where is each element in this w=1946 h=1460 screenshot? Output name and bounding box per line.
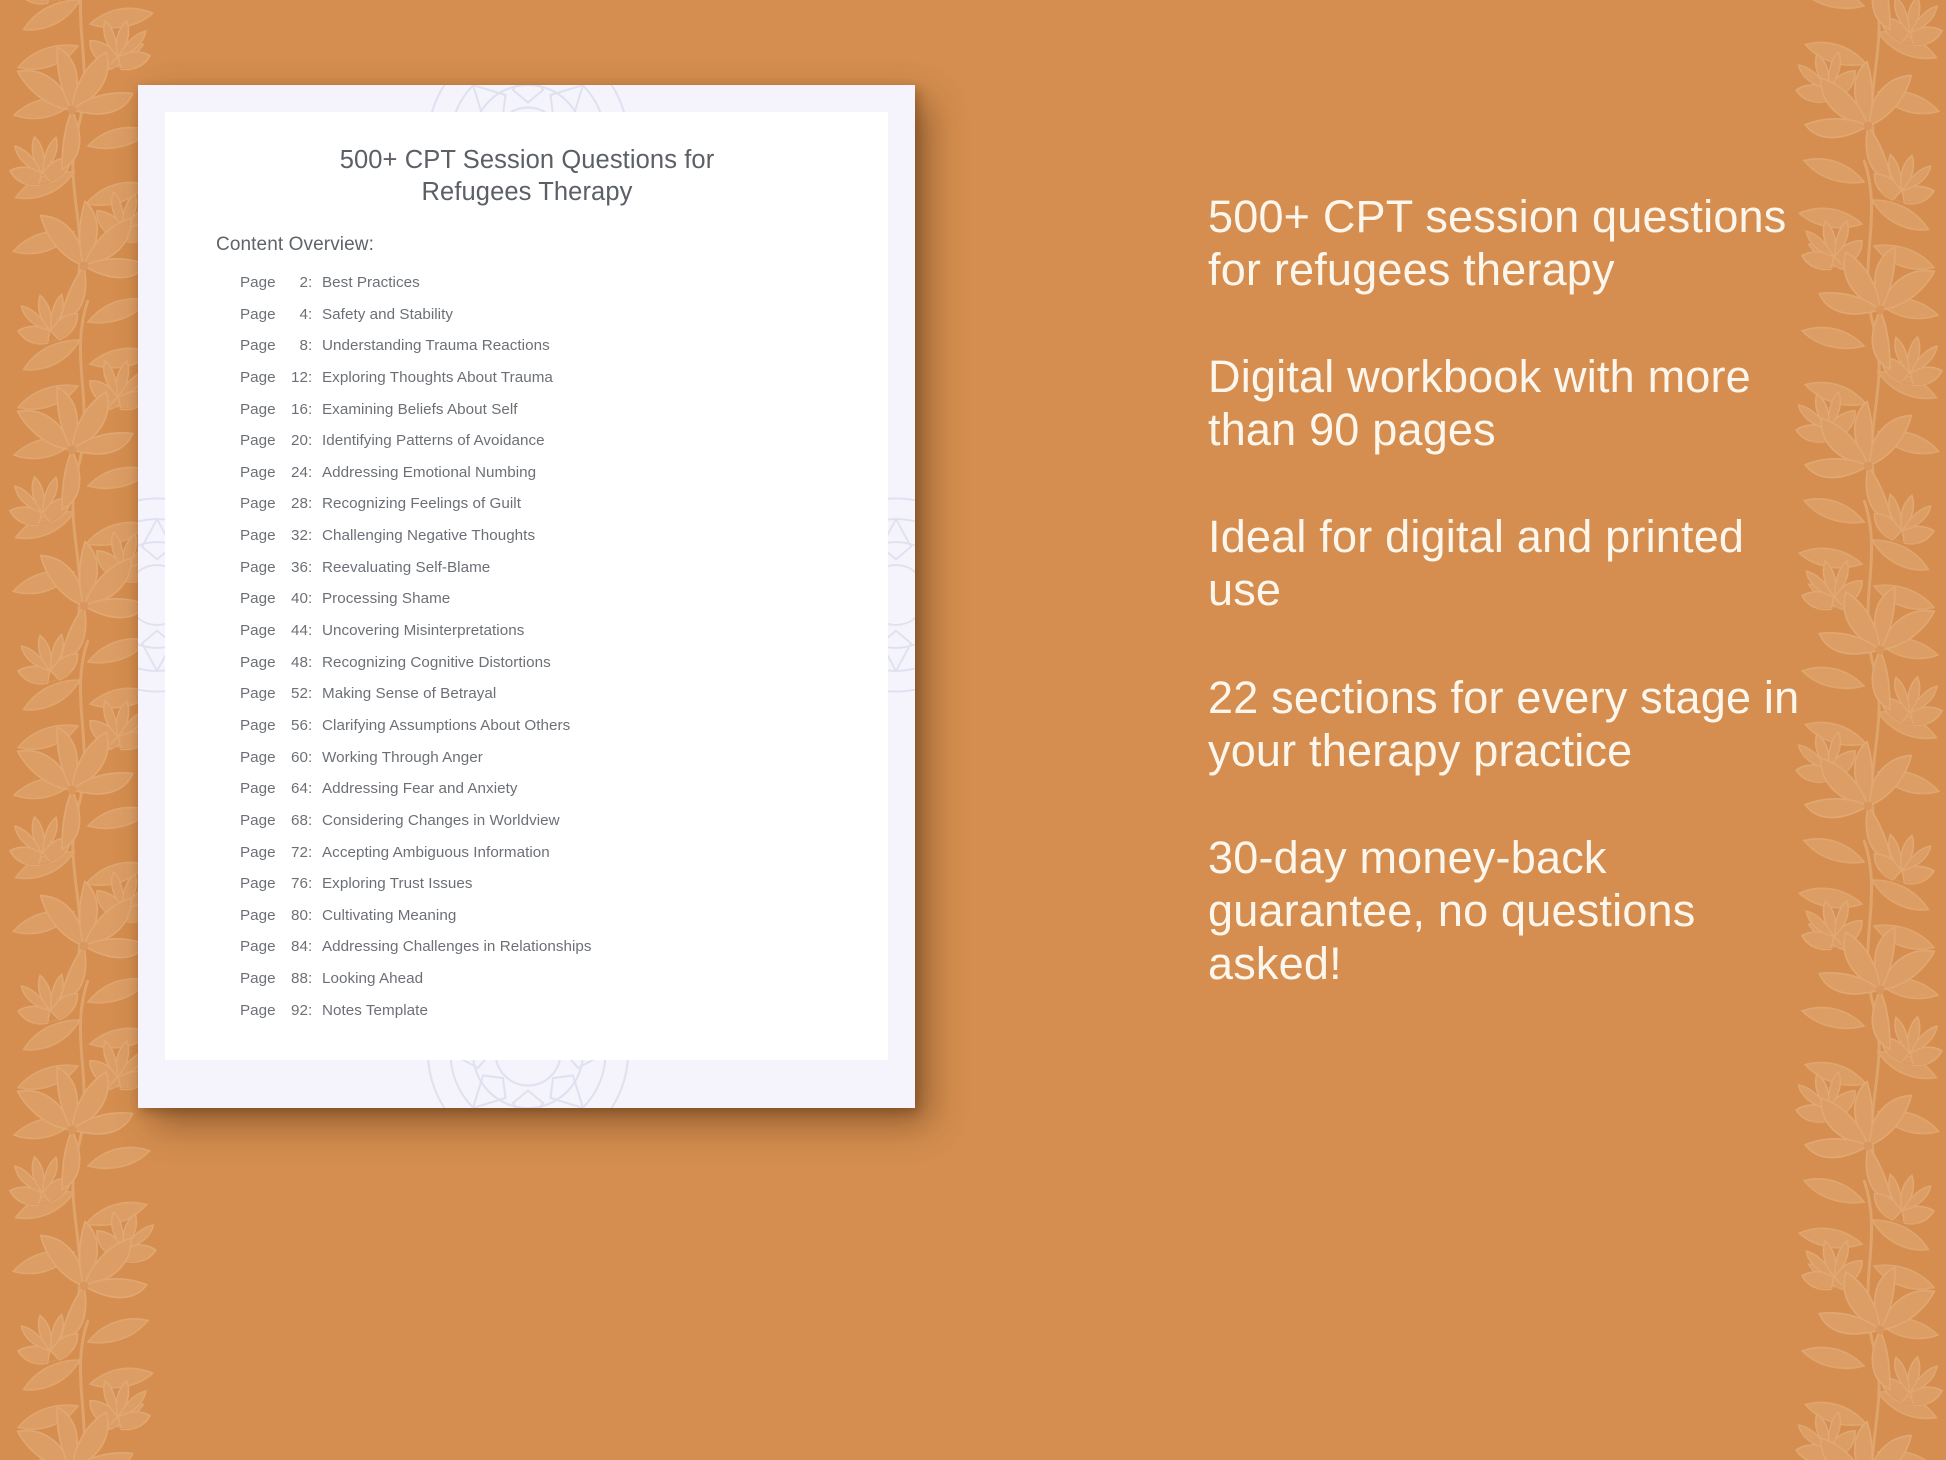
toc-page-word: Page xyxy=(240,369,282,386)
toc-page-number: 40 xyxy=(282,590,308,607)
toc-row: Page64:Addressing Fear and Anxiety xyxy=(240,780,860,812)
toc-section-title: Challenging Negative Thoughts xyxy=(322,527,535,544)
toc-row: Page44:Uncovering Misinterpretations xyxy=(240,622,860,654)
toc-colon: : xyxy=(308,527,322,544)
toc-colon: : xyxy=(308,464,322,481)
page-title: 500+ CPT Session Questions for Refugees … xyxy=(217,145,837,209)
toc-colon: : xyxy=(308,654,322,671)
toc-page-word: Page xyxy=(240,875,282,892)
toc-section-title: Processing Shame xyxy=(322,590,450,607)
toc-page-number: 48 xyxy=(282,654,308,671)
toc-section-title: Identifying Patterns of Avoidance xyxy=(322,432,545,449)
toc-page-word: Page xyxy=(240,432,282,449)
marketing-bullet: 500+ CPT session questions for refugees … xyxy=(1208,190,1828,296)
toc-colon: : xyxy=(308,844,322,861)
toc-row: Page56:Clarifying Assumptions About Othe… xyxy=(240,717,860,749)
toc-page-number: 8 xyxy=(282,337,308,354)
toc-row: Page68:Considering Changes in Worldview xyxy=(240,812,860,844)
toc-page-number: 4 xyxy=(282,306,308,323)
toc-section-title: Recognizing Feelings of Guilt xyxy=(322,495,521,512)
toc-colon: : xyxy=(308,306,322,323)
toc-row: Page28:Recognizing Feelings of Guilt xyxy=(240,495,860,527)
toc-colon: : xyxy=(308,907,322,924)
toc-row: Page80:Cultivating Meaning xyxy=(240,907,860,939)
toc-row: Page36:Reevaluating Self-Blame xyxy=(240,559,860,591)
toc-page-word: Page xyxy=(240,464,282,481)
toc-page-number: 68 xyxy=(282,812,308,829)
toc-page-number: 56 xyxy=(282,717,308,734)
toc-section-title: Exploring Thoughts About Trauma xyxy=(322,369,553,386)
toc-colon: : xyxy=(308,970,322,987)
toc-section-title: Cultivating Meaning xyxy=(322,907,456,924)
toc-page-number: 64 xyxy=(282,780,308,797)
toc-colon: : xyxy=(308,274,322,291)
toc-page-word: Page xyxy=(240,527,282,544)
toc-row: Page2:Best Practices xyxy=(240,274,860,306)
toc-section-title: Best Practices xyxy=(322,274,420,291)
toc-row: Page92:Notes Template xyxy=(240,1002,860,1034)
toc-colon: : xyxy=(308,875,322,892)
toc-row: Page76:Exploring Trust Issues xyxy=(240,875,860,907)
toc-section-title: Addressing Fear and Anxiety xyxy=(322,780,518,797)
page-sheet: 500+ CPT Session Questions for Refugees … xyxy=(165,112,888,1060)
toc-row: Page40:Processing Shame xyxy=(240,590,860,622)
toc-page-word: Page xyxy=(240,306,282,323)
toc-section-title: Exploring Trust Issues xyxy=(322,875,473,892)
toc-page-number: 84 xyxy=(282,938,308,955)
page-mat: 500+ CPT Session Questions for Refugees … xyxy=(138,85,915,1108)
toc-page-number: 28 xyxy=(282,495,308,512)
toc-section-title: Uncovering Misinterpretations xyxy=(322,622,524,639)
toc-section-title: Considering Changes in Worldview xyxy=(322,812,560,829)
table-of-contents: Page2:Best PracticesPage4:Safety and Sta… xyxy=(240,274,860,1033)
toc-page-word: Page xyxy=(240,622,282,639)
toc-row: Page32:Challenging Negative Thoughts xyxy=(240,527,860,559)
content-overview-label: Content Overview: xyxy=(216,234,374,256)
toc-page-number: 16 xyxy=(282,401,308,418)
toc-row: Page84:Addressing Challenges in Relation… xyxy=(240,938,860,970)
toc-colon: : xyxy=(308,938,322,955)
toc-colon: : xyxy=(308,590,322,607)
toc-page-word: Page xyxy=(240,907,282,924)
toc-section-title: Working Through Anger xyxy=(322,749,483,766)
toc-colon: : xyxy=(308,432,322,449)
marketing-bullet: Digital workbook with more than 90 pages xyxy=(1208,350,1828,456)
toc-page-number: 60 xyxy=(282,749,308,766)
toc-page-word: Page xyxy=(240,654,282,671)
toc-section-title: Understanding Trauma Reactions xyxy=(322,337,550,354)
toc-colon: : xyxy=(308,495,322,512)
toc-colon: : xyxy=(308,685,322,702)
toc-page-number: 12 xyxy=(282,369,308,386)
toc-row: Page72:Accepting Ambiguous Information xyxy=(240,844,860,876)
marketing-bullet: 22 sections for every stage in your ther… xyxy=(1208,671,1828,777)
toc-page-word: Page xyxy=(240,717,282,734)
toc-page-number: 76 xyxy=(282,875,308,892)
toc-colon: : xyxy=(308,780,322,797)
toc-section-title: Safety and Stability xyxy=(322,306,453,323)
toc-colon: : xyxy=(308,812,322,829)
toc-page-word: Page xyxy=(240,938,282,955)
toc-page-word: Page xyxy=(240,749,282,766)
toc-page-number: 36 xyxy=(282,559,308,576)
toc-row: Page52:Making Sense of Betrayal xyxy=(240,685,860,717)
toc-page-number: 24 xyxy=(282,464,308,481)
toc-colon: : xyxy=(308,749,322,766)
toc-page-number: 52 xyxy=(282,685,308,702)
toc-section-title: Clarifying Assumptions About Others xyxy=(322,717,570,734)
toc-page-word: Page xyxy=(240,780,282,797)
toc-page-number: 2 xyxy=(282,274,308,291)
toc-colon: : xyxy=(308,559,322,576)
toc-row: Page12:Exploring Thoughts About Trauma xyxy=(240,369,860,401)
marketing-bullet-list: 500+ CPT session questions for refugees … xyxy=(1208,190,1828,990)
toc-page-number: 20 xyxy=(282,432,308,449)
toc-page-number: 80 xyxy=(282,907,308,924)
toc-page-word: Page xyxy=(240,495,282,512)
toc-page-word: Page xyxy=(240,970,282,987)
toc-page-number: 44 xyxy=(282,622,308,639)
page-title-line-2: Refugees Therapy xyxy=(217,177,837,209)
toc-section-title: Addressing Emotional Numbing xyxy=(322,464,536,481)
toc-page-word: Page xyxy=(240,559,282,576)
toc-row: Page48:Recognizing Cognitive Distortions xyxy=(240,654,860,686)
toc-page-word: Page xyxy=(240,812,282,829)
toc-page-number: 88 xyxy=(282,970,308,987)
toc-page-word: Page xyxy=(240,844,282,861)
toc-row: Page20:Identifying Patterns of Avoidance xyxy=(240,432,860,464)
toc-page-word: Page xyxy=(240,337,282,354)
toc-colon: : xyxy=(308,401,322,418)
toc-colon: : xyxy=(308,369,322,386)
toc-page-word: Page xyxy=(240,685,282,702)
toc-section-title: Recognizing Cognitive Distortions xyxy=(322,654,551,671)
toc-colon: : xyxy=(308,717,322,734)
toc-section-title: Examining Beliefs About Self xyxy=(322,401,518,418)
toc-row: Page60:Working Through Anger xyxy=(240,749,860,781)
toc-row: Page24:Addressing Emotional Numbing xyxy=(240,464,860,496)
toc-colon: : xyxy=(308,622,322,639)
toc-page-word: Page xyxy=(240,590,282,607)
toc-row: Page4:Safety and Stability xyxy=(240,306,860,338)
toc-section-title: Addressing Challenges in Relationships xyxy=(322,938,592,955)
toc-row: Page88:Looking Ahead xyxy=(240,970,860,1002)
workbook-page-preview: 500+ CPT Session Questions for Refugees … xyxy=(138,85,915,1108)
toc-page-number: 92 xyxy=(282,1002,308,1019)
toc-colon: : xyxy=(308,337,322,354)
toc-section-title: Accepting Ambiguous Information xyxy=(322,844,550,861)
toc-colon: : xyxy=(308,1002,322,1019)
toc-page-number: 32 xyxy=(282,527,308,544)
toc-row: Page8:Understanding Trauma Reactions xyxy=(240,337,860,369)
page-title-line-1: 500+ CPT Session Questions for xyxy=(217,145,837,177)
toc-page-word: Page xyxy=(240,401,282,418)
toc-page-word: Page xyxy=(240,1002,282,1019)
toc-section-title: Looking Ahead xyxy=(322,970,423,987)
toc-section-title: Reevaluating Self-Blame xyxy=(322,559,490,576)
marketing-bullet: Ideal for digital and printed use xyxy=(1208,510,1828,616)
toc-section-title: Notes Template xyxy=(322,1002,428,1019)
marketing-bullet: 30-day money-back guarantee, no question… xyxy=(1208,831,1828,990)
toc-row: Page16:Examining Beliefs About Self xyxy=(240,401,860,433)
toc-page-number: 72 xyxy=(282,844,308,861)
listing-canvas: 500+ CPT Session Questions for Refugees … xyxy=(0,0,1946,1460)
toc-section-title: Making Sense of Betrayal xyxy=(322,685,496,702)
toc-page-word: Page xyxy=(240,274,282,291)
